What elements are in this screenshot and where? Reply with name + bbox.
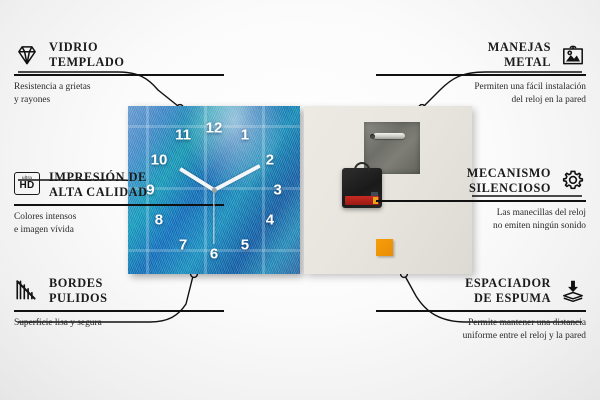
clock-front-face: 12 1 2 3 4 5 6 7 8 9 10 11: [128, 106, 300, 274]
clock-numeral: 2: [266, 152, 274, 167]
clock-numeral: 3: [273, 183, 281, 198]
clock-numeral: 9: [146, 183, 154, 198]
picture-hanger-icon: [560, 42, 586, 68]
feature-description: Las manecillas del relojno emiten ningún…: [376, 207, 586, 233]
hd-icon-hd-text: HD: [19, 181, 34, 191]
feature-impresion-alta-calidad: ultra HD IMPRESIÓN DEALTA CALIDAD Colore…: [14, 170, 224, 237]
clock-numeral: 11: [175, 127, 191, 142]
feature-title: MANEJASMETAL: [376, 40, 551, 70]
divider: [376, 310, 586, 312]
gear-icon: [560, 168, 586, 194]
feature-title: BORDESPULIDOS: [49, 276, 224, 306]
movement-hanging-loop: [354, 162, 370, 171]
feature-bordes-pulidos: BORDESPULIDOS Superficie lisa y segura: [14, 276, 224, 330]
feature-title: IMPRESIÓN DEALTA CALIDAD: [49, 170, 224, 200]
clock-numeral: 1: [241, 127, 249, 142]
hanger-hole: [370, 134, 375, 139]
divider: [376, 200, 586, 202]
foam-spacer: [376, 239, 393, 256]
feature-vidrio-templado: VIDRIOTEMPLADO Resistencia a grietasy ra…: [14, 40, 224, 107]
battery: [345, 196, 379, 205]
diamond-icon: [14, 42, 40, 68]
beveled-edge-icon: [14, 278, 40, 304]
clock-numeral: 6: [210, 246, 218, 261]
clock-numeral: 8: [155, 213, 163, 228]
clock-numeral: 4: [266, 213, 274, 228]
divider: [14, 74, 224, 76]
clock-center-pin: [212, 188, 217, 193]
clock-numeral: 7: [179, 238, 187, 253]
hanger-slot: [373, 133, 405, 139]
feature-description: Colores intensose imagen vívida: [14, 211, 224, 237]
clock-numeral: 5: [241, 238, 249, 253]
feature-description: Permite mantener una distanciauniforme e…: [376, 317, 586, 343]
feature-espaciador-espuma: ESPACIADORDE ESPUMA Permite mantener una…: [376, 276, 586, 343]
feature-title: MECANISMOSILENCIOSO: [376, 166, 551, 196]
feature-manejas-metal: MANEJASMETAL Permiten una fácil instalac…: [376, 40, 586, 107]
feature-description: Superficie lisa y segura: [14, 317, 224, 330]
divider: [14, 204, 224, 206]
divider: [376, 74, 586, 76]
feature-title: ESPACIADORDE ESPUMA: [376, 276, 551, 306]
foam-spacer-icon: [560, 278, 586, 304]
feature-description: Resistencia a grietasy rayones: [14, 81, 224, 107]
clock-numeral: 10: [151, 152, 168, 167]
divider: [14, 310, 224, 312]
feature-title: VIDRIOTEMPLADO: [49, 40, 224, 70]
ultra-hd-icon: ultra HD: [14, 172, 40, 198]
feature-description: Permiten una fácil instalacióndel reloj …: [376, 81, 586, 107]
clock-numeral: 12: [206, 120, 223, 135]
feature-mecanismo-silencioso: MECANISMOSILENCIOSO Las manecillas del r…: [376, 166, 586, 233]
